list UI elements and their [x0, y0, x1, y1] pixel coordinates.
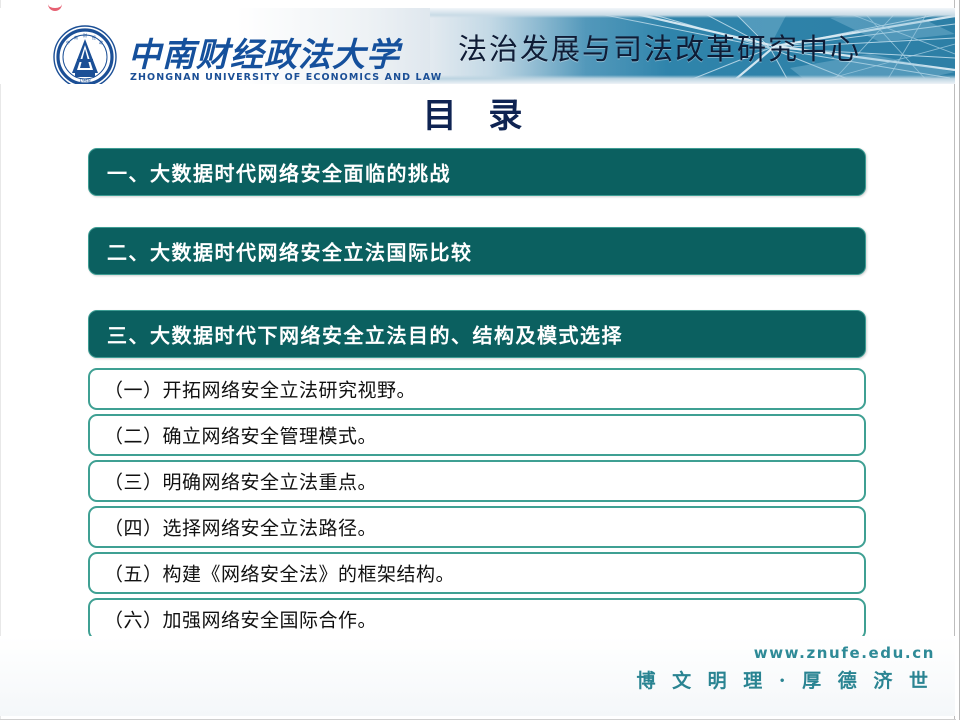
sub-item-label-6: （六）加强网络安全国际合作。 [104, 606, 377, 633]
svg-text:政: 政 [99, 39, 103, 45]
sub-item-label-5: （五）构建《网络安全法》的框架结构。 [104, 560, 455, 587]
sub-item-label-4: （四）选择网络安全立法路径。 [104, 514, 377, 541]
sub-item-label-2: （二）确立网络安全管理模式。 [104, 422, 377, 449]
sub-item-label-1: （一）开拓网络安全立法研究视野。 [104, 376, 416, 403]
svg-text:中: 中 [66, 39, 70, 45]
footer-motto: 博 文 明 理 · 厚 德 济 世 [636, 666, 933, 693]
section-label-2: 二、大数据时代网络安全立法国际比较 [107, 237, 473, 266]
svg-text:经: 经 [92, 34, 96, 40]
banner-top-band [430, 8, 955, 18]
header-banner: 法治发展与司法改革研究中心 [430, 8, 955, 84]
banner-bottom-band [430, 75, 955, 84]
sub-item-2[interactable]: （二）确立网络安全管理模式。 [88, 414, 866, 456]
section-bar-3[interactable]: 三、大数据时代下网络安全立法目的、结构及模式选择 [88, 310, 866, 358]
svg-text:财: 财 [83, 32, 87, 38]
slide-header: 法治发展与司法改革研究中心 中南 财经 政 1948 中南财经政法大学 [0, 8, 955, 84]
sub-item-1[interactable]: （一）开拓网络安全立法研究视野。 [88, 368, 866, 410]
sub-item-4[interactable]: （四）选择网络安全立法路径。 [88, 506, 866, 548]
footer-website-url[interactable]: www.znufe.edu.cn [754, 644, 935, 662]
section-label-1: 一、大数据时代网络安全面临的挑战 [107, 158, 451, 187]
svg-text:1948: 1948 [79, 78, 91, 84]
section-label-3: 三、大数据时代下网络安全立法目的、结构及模式选择 [107, 320, 623, 349]
section-bar-1[interactable]: 一、大数据时代网络安全面临的挑战 [88, 148, 866, 196]
slide-footer: www.znufe.edu.cn 博 文 明 理 · 厚 德 济 世 [0, 636, 955, 716]
sub-item-6[interactable]: （六）加强网络安全国际合作。 [88, 598, 866, 640]
research-center-title: 法治发展与司法改革研究中心 [458, 26, 861, 68]
sub-item-5[interactable]: （五）构建《网络安全法》的框架结构。 [88, 552, 866, 594]
section-bar-2[interactable]: 二、大数据时代网络安全立法国际比较 [88, 227, 866, 275]
university-name-cn: 中南财经政法大学 [128, 28, 400, 76]
university-logo: 中南 财经 政 1948 中南财经政法大学 ZHONGNAN UNIVERSIT… [52, 24, 382, 84]
university-crest-icon: 中南 财经 政 1948 [52, 24, 118, 84]
sub-item-label-3: （三）明确网络安全立法重点。 [104, 468, 377, 495]
sub-item-3[interactable]: （三）明确网络安全立法重点。 [88, 460, 866, 502]
svg-text:南: 南 [74, 34, 78, 40]
university-name-en: ZHONGNAN UNIVERSITY OF ECONOMICS AND LAW [130, 72, 442, 83]
presentation-slide: 法治发展与司法改革研究中心 中南 财经 政 1948 中南财经政法大学 [0, 0, 960, 720]
page-title: 目 录 [0, 88, 955, 137]
